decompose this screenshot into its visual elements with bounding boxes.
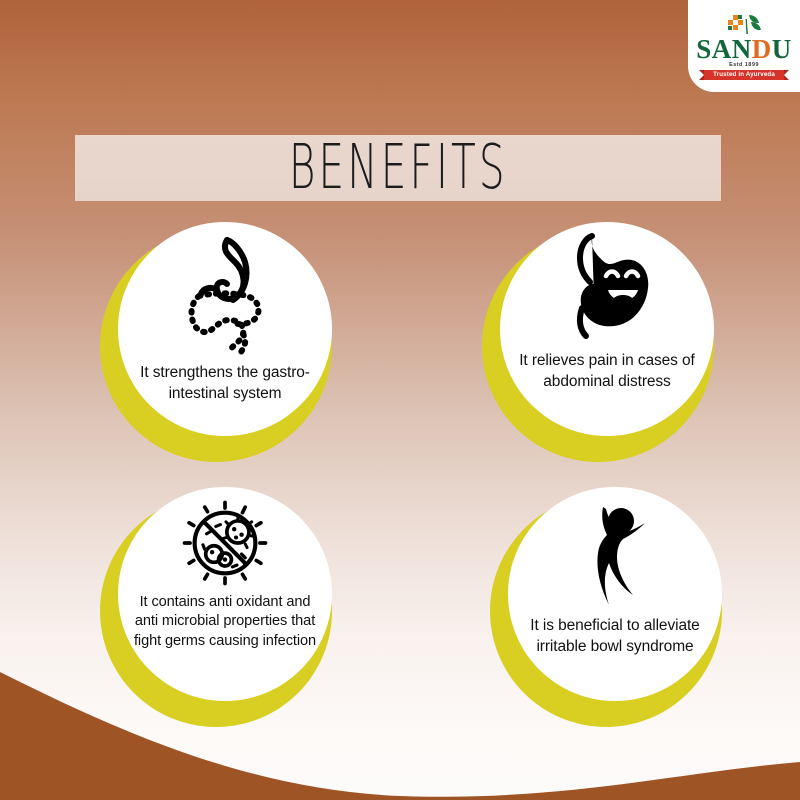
benefit-caption: It relieves pain in cases of abdominal d… <box>515 350 700 393</box>
leaf-plant-icon <box>724 12 764 36</box>
benefit-card-abdominal-distress[interactable]: It relieves pain in cases of abdominal d… <box>482 222 714 454</box>
benefit-caption: It strengthens the gastro-intestinal sys… <box>133 362 318 405</box>
no-germs-icon <box>179 497 271 589</box>
benefit-disc: It is beneficial to alleviate irritable … <box>508 487 722 701</box>
title-band: BENEFITS <box>75 135 721 201</box>
benefits-poster: SANDU Estd 1899 Trusted in Ayurveda BENE… <box>0 0 800 800</box>
digestive-tract-icon <box>177 236 273 356</box>
benefit-caption: It is beneficial to alleviate irritable … <box>523 615 708 658</box>
joyful-person-icon <box>573 501 657 609</box>
benefit-disc: It strengthens the gastro-intestinal sys… <box>118 222 332 436</box>
benefit-caption: It contains anti oxidant and anti microb… <box>133 593 318 651</box>
smiling-stomach-icon <box>552 232 662 344</box>
benefit-disc: It contains anti oxidant and anti microb… <box>118 487 332 701</box>
brand-established: Estd 1899 <box>729 63 759 69</box>
brand-wordmark: SANDU <box>696 37 792 63</box>
brand-wordmark-text: SANDU <box>696 34 792 64</box>
brand-logo-panel: SANDU Estd 1899 Trusted in Ayurveda <box>688 0 800 92</box>
benefit-card-irritable-bowel[interactable]: It is beneficial to alleviate irritable … <box>490 487 722 719</box>
benefit-disc: It relieves pain in cases of abdominal d… <box>500 222 714 436</box>
benefit-card-anti-microbial[interactable]: It contains anti oxidant and anti microb… <box>100 487 332 719</box>
page-title: BENEFITS <box>289 133 508 204</box>
benefit-card-gastro-intestinal[interactable]: It strengthens the gastro-intestinal sys… <box>100 222 332 454</box>
brand-tagline-ribbon: Trusted in Ayurveda <box>704 70 784 81</box>
